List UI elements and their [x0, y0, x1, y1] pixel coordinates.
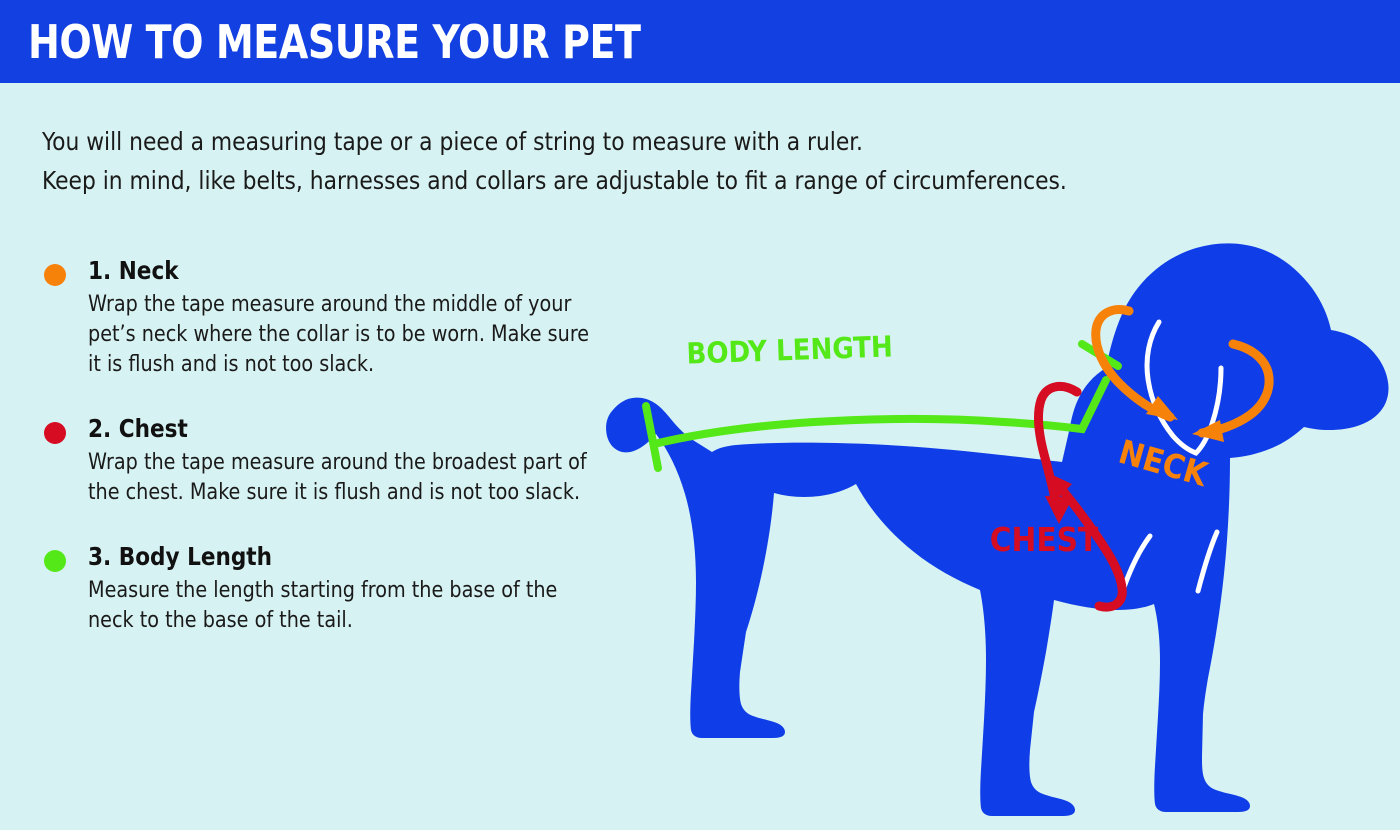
- dog-measurement-diagram: BODY LENGTH NECK CHEST: [600, 196, 1400, 830]
- intro-line-2: Keep in mind, like belts, harnesses and …: [42, 161, 1264, 200]
- step-item-body-length: 3. Body Length Measure the length starti…: [42, 542, 622, 636]
- step-heading-chest: 2. Chest: [88, 414, 601, 444]
- intro-line-1: You will need a measuring tape or a piec…: [42, 122, 1264, 161]
- step-body-neck: Wrap the tape measure around the middle …: [88, 290, 606, 380]
- step-heading-body-length: 3. Body Length: [88, 542, 601, 572]
- bullet-dot-icon-chest: [44, 422, 66, 444]
- step-item-neck: 1. Neck Wrap the tape measure around the…: [42, 256, 622, 380]
- intro-paragraph: You will need a measuring tape or a piec…: [42, 122, 1302, 200]
- step-body-body-length: Measure the length starting from the bas…: [88, 576, 606, 636]
- step-item-chest: 2. Chest Wrap the tape measure around th…: [42, 414, 622, 508]
- steps-list: 1. Neck Wrap the tape measure around the…: [42, 256, 622, 670]
- bullet-dot-icon-body-length: [44, 550, 66, 572]
- page-title: HOW TO MEASURE YOUR PET: [28, 16, 641, 68]
- step-body-chest: Wrap the tape measure around the broades…: [88, 448, 606, 508]
- bullet-dot-icon-neck: [44, 264, 66, 286]
- step-heading-neck: 1. Neck: [88, 256, 601, 286]
- header-bar: HOW TO MEASURE YOUR PET: [0, 0, 1400, 83]
- body-length-label: BODY LENGTH: [686, 329, 893, 370]
- chest-label: CHEST: [990, 520, 1099, 559]
